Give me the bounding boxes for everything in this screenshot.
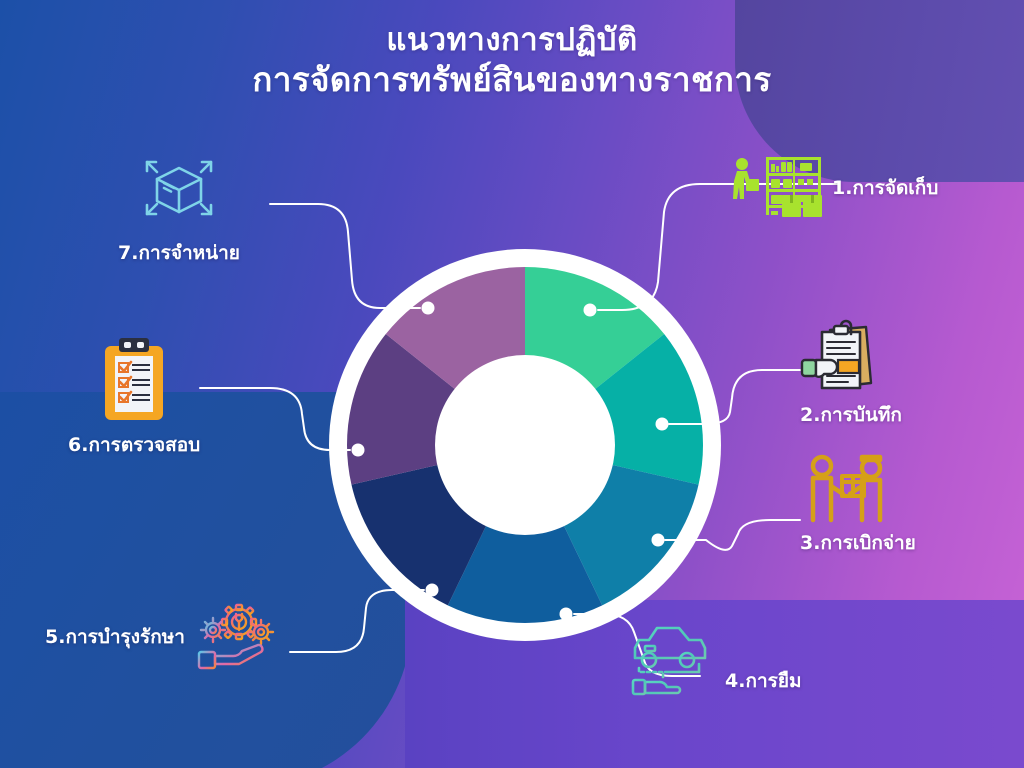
step-label-1: 1.การจัดเก็บ bbox=[832, 173, 938, 203]
step-label-7: 7.การจำหน่าย bbox=[118, 238, 240, 268]
infographic-canvas: แนวทางการปฏิบัติ การจัดการทรัพย์สินของทา… bbox=[0, 0, 1024, 768]
document-record-icon bbox=[800, 318, 882, 396]
step-label-3: 3.การเบิกจ่าย bbox=[800, 528, 916, 558]
step-item-3[interactable]: 3.การเบิกจ่าย bbox=[800, 452, 916, 558]
title-line-secondary: การจัดการทรัพย์สินของทางราชการ bbox=[0, 60, 1024, 100]
step-item-2[interactable]: 2.การบันทึก bbox=[800, 318, 902, 430]
step-label-6: 6.การตรวจสอบ bbox=[68, 430, 200, 460]
page-title: แนวทางการปฏิบัติ การจัดการทรัพย์สินของทา… bbox=[0, 22, 1024, 100]
step-label-5: 5.การบำรุงรักษา bbox=[45, 622, 185, 652]
handover-box-icon bbox=[800, 452, 892, 526]
step-item-4[interactable]: 4.การยืม bbox=[627, 616, 801, 698]
clipboard-checklist-icon bbox=[101, 336, 167, 424]
step-item-5[interactable]: 5.การบำรุงรักษา bbox=[45, 600, 275, 674]
warehouse-storage-icon bbox=[726, 155, 824, 221]
step-item-6[interactable]: 6.การตรวจสอบ bbox=[68, 336, 200, 460]
step-item-7[interactable]: 7.การจำหน่าย bbox=[118, 142, 240, 268]
donut-wheel bbox=[325, 245, 725, 645]
car-borrow-icon bbox=[627, 616, 715, 698]
step-item-1[interactable]: 1.การจัดเก็บ bbox=[726, 155, 938, 221]
step-label-2: 2.การบันทึก bbox=[800, 400, 902, 430]
gears-maintenance-icon bbox=[195, 600, 275, 674]
step-label-4: 4.การยืม bbox=[725, 666, 801, 696]
donut-inner-hub bbox=[435, 355, 615, 535]
box-distribute-icon bbox=[131, 142, 227, 234]
title-line-primary: แนวทางการปฏิบัติ bbox=[0, 22, 1024, 60]
